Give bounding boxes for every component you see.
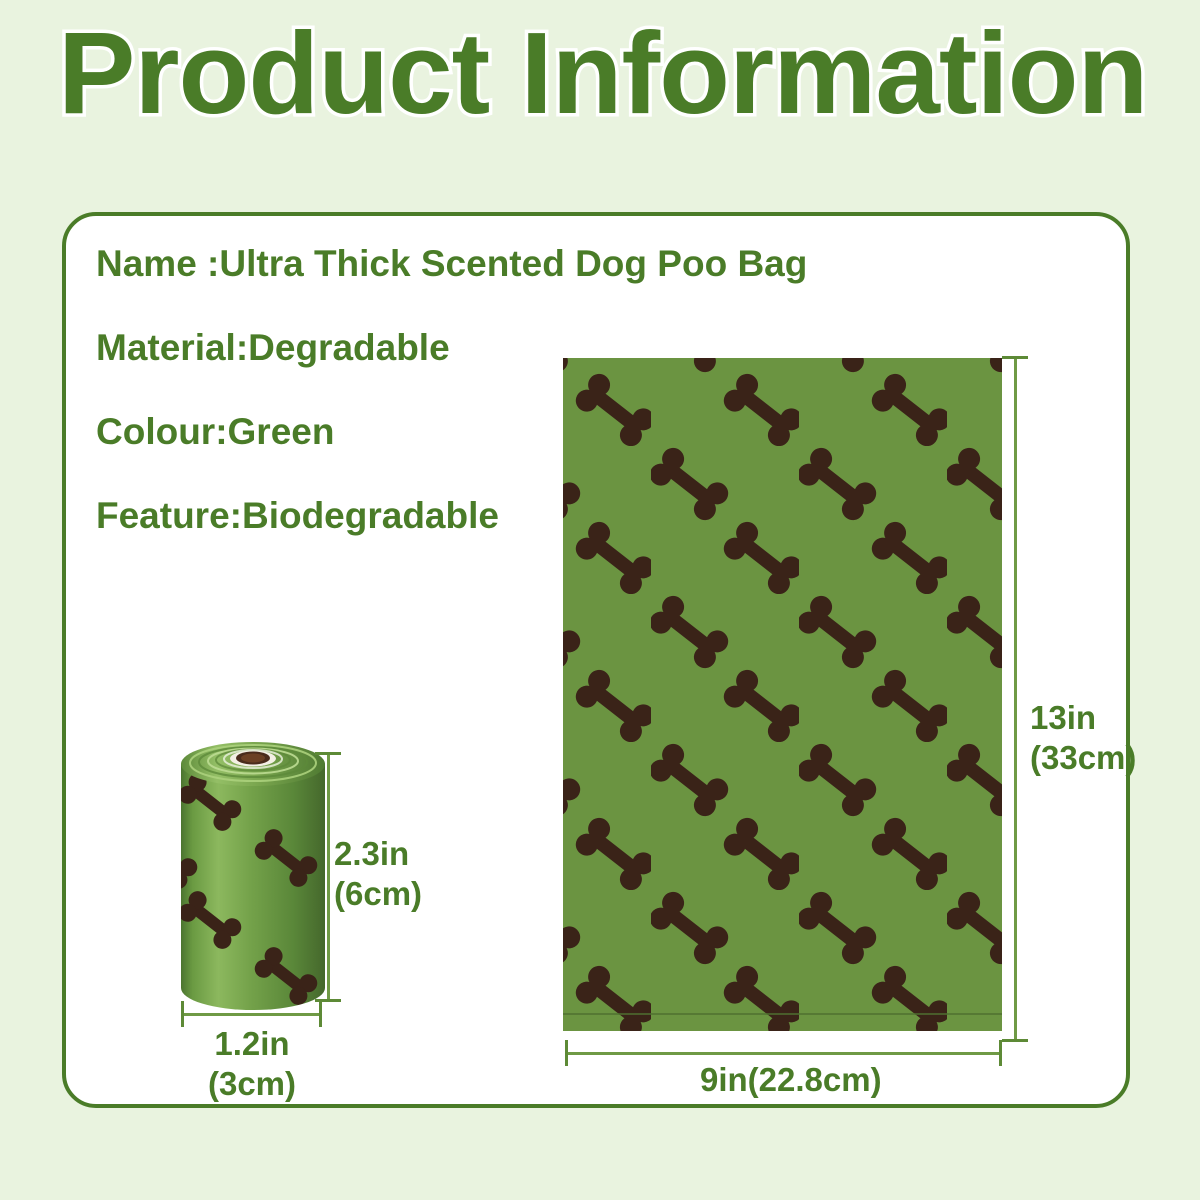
bag-height-dimension-line [1014, 356, 1017, 1042]
roll-height-dimension-line [327, 752, 330, 1002]
poo-bag-illustration [563, 358, 1002, 1031]
spec-row-name: Name :Ultra Thick Scented Dog Poo Bag [96, 242, 956, 286]
roll-width-cm: (3cm) [196, 1064, 308, 1104]
page-title: Product Information [58, 8, 1158, 138]
roll-width-tick-right [319, 1001, 322, 1027]
bag-width-label: 9in(22.8cm) [700, 1060, 882, 1100]
roll-width-inches: 1.2in [196, 1024, 308, 1064]
roll-width-label: 1.2in (3cm) [196, 1024, 308, 1104]
bag-height-tick-bottom [1002, 1039, 1028, 1042]
bag-height-tick-top [1002, 356, 1028, 359]
roll-height-inches: 2.3in [334, 834, 422, 874]
roll-width-tick-left [181, 1001, 184, 1027]
bag-seam-line [563, 1013, 1002, 1015]
roll-height-tick-top [315, 752, 341, 755]
bag-width-tick-right [999, 1040, 1002, 1066]
roll-height-cm: (6cm) [334, 874, 422, 914]
roll-height-label: 2.3in (6cm) [334, 834, 422, 914]
bag-height-inches: 13in [1030, 698, 1136, 738]
bag-width-dimension-line [565, 1052, 1002, 1055]
bag-width-tick-left [565, 1040, 568, 1066]
bag-height-cm: (33cm) [1030, 738, 1136, 778]
bone-pattern-icon [563, 358, 1002, 1031]
roll-width-dimension-line [181, 1013, 322, 1016]
bag-roll-illustration [178, 730, 328, 1018]
bag-height-label: 13in (33cm) [1030, 698, 1136, 778]
